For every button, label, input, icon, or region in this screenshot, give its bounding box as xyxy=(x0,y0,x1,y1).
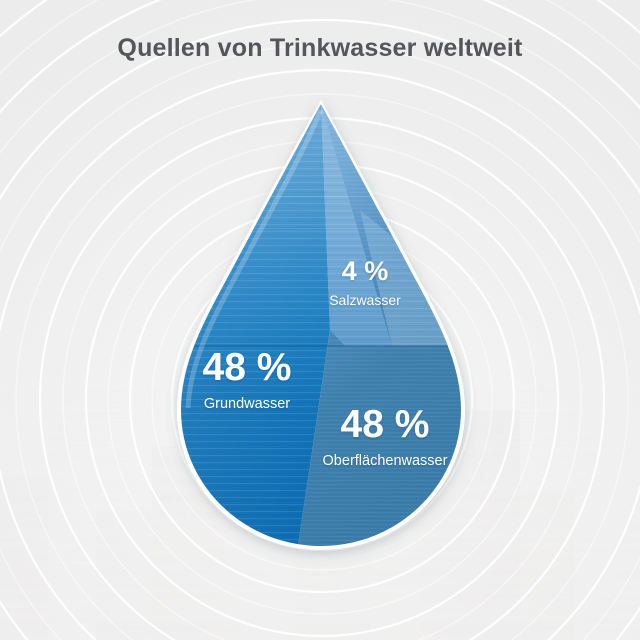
page-title: Quellen von Trinkwasser weltweit xyxy=(0,34,640,63)
water-droplet-chart xyxy=(0,0,640,640)
infographic-canvas: Quellen von Trinkwasser weltweit 4 % Sal… xyxy=(0,0,640,640)
segment-grundwasser[interactable] xyxy=(150,100,330,560)
